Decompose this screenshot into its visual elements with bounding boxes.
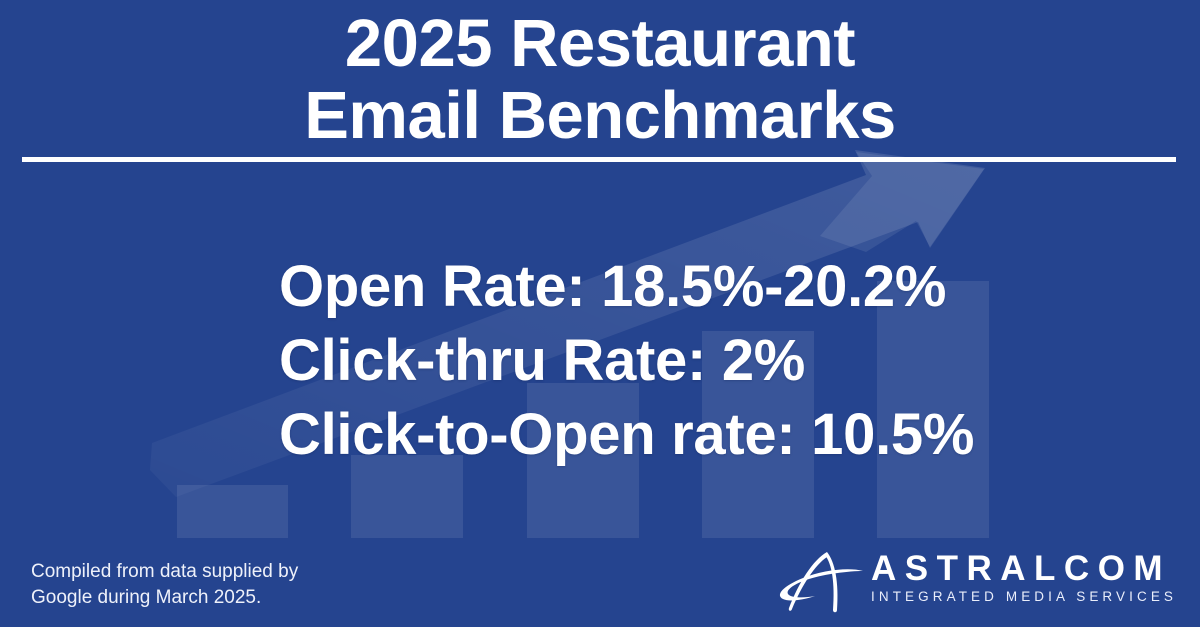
credit-line-1: Compiled from data supplied by: [31, 559, 451, 585]
stat-open-rate: Open Rate: 18.5%-20.2%: [279, 250, 1179, 324]
stat-click-to-open-rate: Click-to-Open rate: 10.5%: [279, 398, 1179, 472]
stat-click-thru-rate: Click-thru Rate: 2%: [279, 324, 1179, 398]
astralcom-a-swoosh-icon: [775, 548, 871, 614]
title-line-1: 2025 Restaurant: [0, 8, 1200, 80]
benchmark-stats-list: Open Rate: 18.5%-20.2% Click-thru Rate: …: [279, 250, 1179, 472]
astralcom-logo[interactable]: ASTRALCOM INTEGRATED MEDIA SERVICES: [775, 548, 1175, 614]
infographic-canvas: 2025 Restaurant Email Benchmarks Open Ra…: [0, 0, 1200, 627]
header-divider: [22, 157, 1176, 162]
credit-line-2: Google during March 2025.: [31, 585, 451, 611]
astralcom-tagline: INTEGRATED MEDIA SERVICES: [871, 588, 1171, 606]
bar-1: [177, 485, 288, 538]
title-line-2: Email Benchmarks: [0, 80, 1200, 152]
astralcom-wordmark-block: ASTRALCOM INTEGRATED MEDIA SERVICES: [871, 550, 1171, 606]
astralcom-wordmark: ASTRALCOM: [871, 550, 1171, 588]
page-title: 2025 Restaurant Email Benchmarks: [0, 8, 1200, 152]
source-credit: Compiled from data supplied by Google du…: [31, 559, 451, 611]
